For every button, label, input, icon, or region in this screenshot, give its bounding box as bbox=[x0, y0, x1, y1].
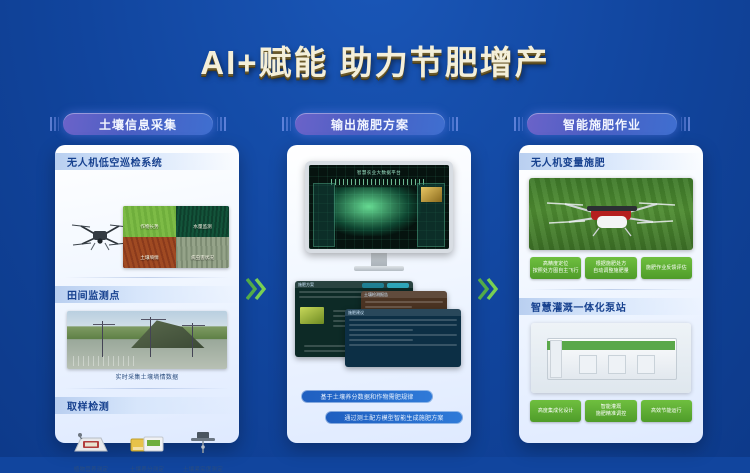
quadrant-label: 水量监测 bbox=[193, 224, 211, 230]
subheading-label: 无人机低空巡检系统 bbox=[67, 154, 162, 169]
insight-pill-1: 基于土壤养分数据和作物需肥规律 bbox=[301, 390, 433, 403]
screen-highlight-card bbox=[421, 187, 442, 202]
detection-device-list: 植物营养测定 土壤养分测定 土壤紧实度测定 bbox=[63, 423, 231, 473]
map-visualization bbox=[334, 187, 421, 236]
section-label: 输出施肥方案 bbox=[331, 116, 409, 133]
subheading-label: 智慧灌溉一体化泵站 bbox=[531, 299, 626, 314]
device-soil-nutrient-analyzer: 土壤养分测定 bbox=[121, 429, 173, 473]
quadrant-label: 病虫害状况 bbox=[191, 255, 214, 261]
section-header-soil-info-collection: 土壤信息采集 bbox=[63, 113, 213, 135]
divider bbox=[65, 277, 229, 278]
tag-integrated-design: 高度集成化设计 bbox=[530, 400, 581, 422]
device-label: 土壤紧实度测定 bbox=[177, 465, 229, 473]
tag-smart-irrigation-control: 智能灌溉 施肥精准调控 bbox=[585, 400, 636, 422]
card-header: 施肥建议 bbox=[345, 309, 461, 316]
pump-feature-tags: 高度集成化设计 智能灌溉 施肥精准调控 高效节能运行 bbox=[528, 400, 694, 422]
export-button[interactable] bbox=[362, 283, 384, 288]
timeline-ticks bbox=[331, 179, 426, 185]
report-card-stack: 施肥方案 土壤检测报告 施肥建议 bbox=[293, 277, 465, 373]
device-soil-compaction-meter: 土壤紧实度测定 bbox=[177, 429, 229, 473]
quadrant-water-monitoring: 水量监测 bbox=[176, 206, 229, 237]
quadrant-crop-growth: 作物长势 bbox=[123, 206, 176, 237]
panel-fertilization-plan-output: 智慧农业大数据平台 施肥方案 土壤检测报告 bbox=[287, 145, 471, 443]
uav-feature-tags: 高精度定位 按照处方图自主飞行 根据施肥处方 自动调整施肥量 施肥作业反馈评估 bbox=[528, 257, 694, 279]
divider bbox=[529, 289, 693, 290]
quadrant-label: 土壤墒情 bbox=[140, 255, 158, 261]
quadrant-soil-moisture: 土壤墒情 bbox=[123, 237, 176, 268]
recommendation-card[interactable]: 施肥建议 bbox=[345, 309, 461, 367]
subheading-smart-irrigation-pump-station: 智慧灌溉一体化泵站 bbox=[519, 298, 703, 315]
section-header-fertilization-plan-output: 输出施肥方案 bbox=[295, 113, 445, 135]
subheading-uav-variable-fertilization: 无人机变量施肥 bbox=[519, 153, 703, 170]
card-header: 土壤检测报告 bbox=[361, 291, 447, 298]
drone-icon bbox=[69, 212, 131, 258]
quadrant-label: 作物长势 bbox=[140, 224, 158, 230]
screen-title: 智慧农业大数据平台 bbox=[357, 170, 401, 176]
panel-soil-info-collection: 无人机低空巡检系统 bbox=[55, 145, 239, 443]
tag-high-precision-positioning: 高精度定位 按照处方图自主飞行 bbox=[530, 257, 581, 279]
field-photo-caption: 实时采集土壤墒情数据 bbox=[55, 372, 239, 381]
infographic-canvas: AI+赋能 助力节肥增产 土壤信息采集 输出施肥方案 智能施肥作业 无人机低空巡… bbox=[0, 0, 750, 457]
flow-arrow-1 bbox=[246, 276, 268, 302]
tag-energy-efficient-operation: 高效节能运行 bbox=[641, 400, 692, 422]
section-label: 智能施肥作业 bbox=[563, 116, 641, 133]
subheading-sampling-detection: 取样检测 bbox=[55, 397, 239, 414]
device-label: 土壤养分测定 bbox=[121, 465, 173, 473]
print-button[interactable] bbox=[387, 283, 409, 288]
divider bbox=[65, 388, 229, 389]
subheading-label: 无人机变量施肥 bbox=[531, 154, 605, 169]
flow-arrow-2 bbox=[478, 276, 500, 302]
quadrant-pest-disease: 病虫害状况 bbox=[176, 237, 229, 268]
device-label: 植物营养测定 bbox=[65, 465, 117, 473]
page-title: AI+赋能 助力节肥增产 bbox=[0, 36, 750, 84]
desktop-monitor: 智慧农业大数据平台 bbox=[305, 161, 453, 271]
monitor-neck bbox=[371, 253, 387, 266]
device-plant-nutrition-analyzer: 植物营养测定 bbox=[65, 429, 117, 473]
subheading-field-monitoring-station: 田间监测点 bbox=[55, 286, 239, 303]
field-imagery-quadrants: 作物长势 水量监测 土壤墒情 病虫害状况 bbox=[123, 206, 229, 268]
crop-thumbnail bbox=[300, 307, 324, 324]
uav-spraying-photo bbox=[529, 178, 693, 250]
section-label: 土壤信息采集 bbox=[99, 116, 177, 133]
hill-shape bbox=[131, 318, 205, 348]
subheading-label: 田间监测点 bbox=[67, 287, 120, 302]
panel-smart-fertilization-operation: 无人机变量施肥 bbox=[519, 145, 703, 443]
tag-auto-dose-adjust: 根据施肥处方 自动调整施肥量 bbox=[585, 257, 636, 279]
subheading-label: 取样检测 bbox=[67, 398, 109, 413]
tag-operation-feedback: 施肥作业反馈评估 bbox=[641, 257, 692, 279]
subheading-uav-inspection: 无人机低空巡检系统 bbox=[55, 153, 239, 170]
pump-band bbox=[547, 341, 675, 350]
section-header-smart-fertilization-operation: 智能施肥作业 bbox=[527, 113, 677, 135]
insight-pill-2: 通过测土配方模型智能生成施肥方案 bbox=[325, 411, 463, 424]
screen-left-panel bbox=[313, 183, 335, 247]
field-station-photo bbox=[67, 311, 227, 369]
pump-station-photo bbox=[531, 323, 691, 393]
monitor-base bbox=[354, 266, 404, 271]
dashboard-screen: 智慧农业大数据平台 bbox=[305, 161, 453, 253]
